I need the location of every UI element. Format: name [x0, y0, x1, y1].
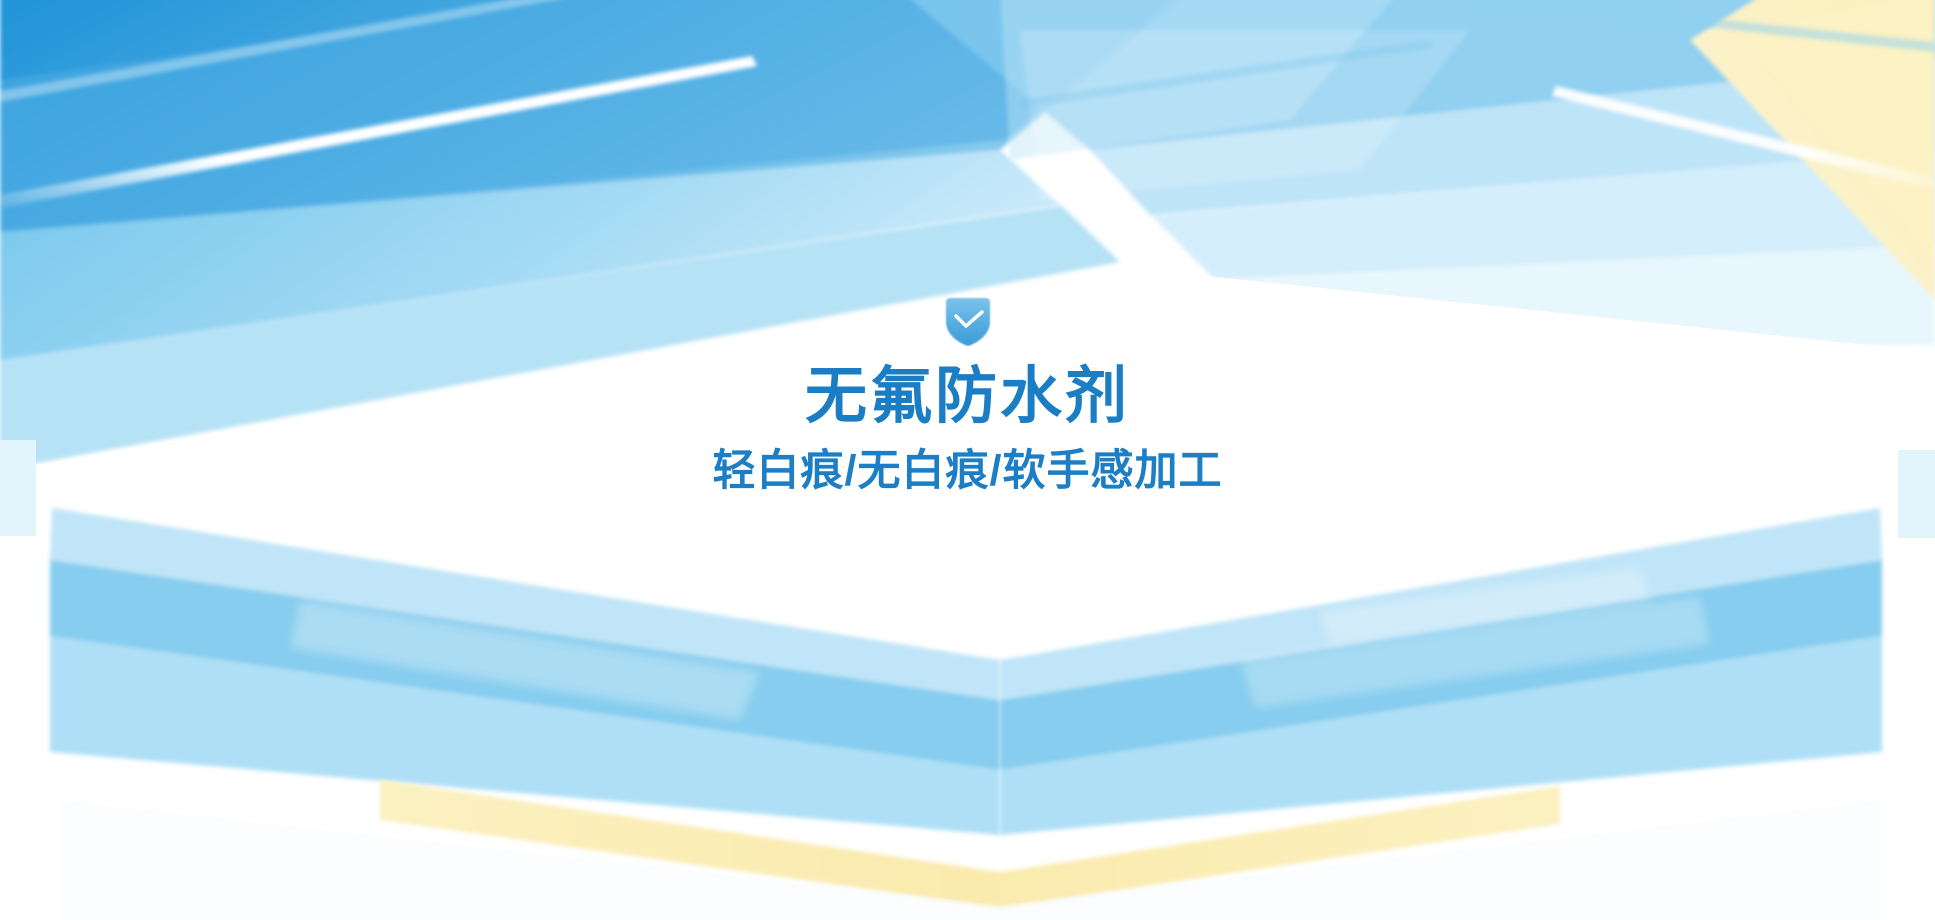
product-hero-banner: 无氟防水剂 轻白痕/无白痕/软手感加工	[0, 0, 1935, 920]
shield-check-icon-svg	[940, 296, 996, 348]
page-subtitle: 轻白痕/无白痕/软手感加工	[713, 447, 1223, 496]
left-edge-pale-strip	[0, 440, 36, 536]
shield-check-icon	[940, 296, 996, 348]
page-title: 无氟防水剂	[805, 362, 1130, 431]
right-edge-pale-strip	[1898, 450, 1935, 538]
